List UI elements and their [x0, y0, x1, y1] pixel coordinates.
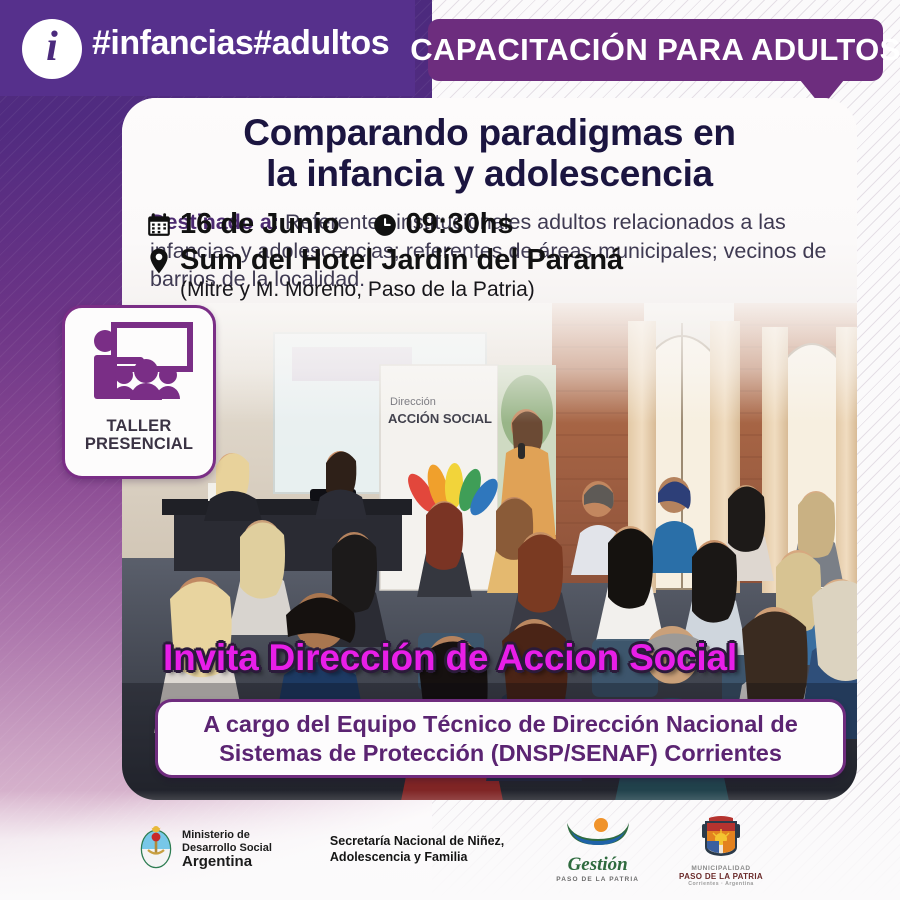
poster-root: i #infancias#adultos CAPACITACIÓN PARA A… [0, 0, 900, 900]
footer-logos: Ministerio de Desarrollo Social Argentin… [0, 812, 900, 888]
senaf-line2: Adolescencia y Familia [330, 850, 504, 866]
event-date-time-row: 16 de Junio 09:30hs [146, 208, 746, 241]
acargo-box: A cargo del Equipo Técnico de Dirección … [155, 699, 846, 778]
acargo-line2: Sistemas de Protección (DNSP/SENAF) Corr… [203, 739, 798, 768]
municipality-line3: Corrientes · Argentina [679, 881, 763, 887]
gestion-logo: Gestión PASO DE LA PATRIA [556, 817, 639, 883]
municipality-line2: PASO DE LA PATRIA [679, 872, 763, 881]
info-icon-glyph: i [46, 26, 58, 68]
ministry-line3: Argentina [182, 854, 272, 871]
photo-top-wash [122, 303, 857, 423]
invita-headline: Invita Dirección de Accion Social [0, 637, 900, 679]
location-pin-icon [146, 247, 172, 275]
page-title-line2: la infancia y adolescencia [122, 153, 857, 194]
senaf-logo-text: Secretaría Nacional de Niñez, Adolescenc… [330, 834, 504, 865]
senaf-line1: Secretaría Nacional de Niñez, [330, 834, 504, 850]
info-icon: i [22, 19, 82, 79]
acargo-line1: A cargo del Equipo Técnico de Dirección … [203, 710, 798, 739]
gestion-wordmark: Gestión [556, 855, 639, 874]
clock-icon [372, 212, 398, 238]
event-time: 09:30hs [406, 208, 514, 241]
main-card: Dirección ACCIÓN SOCIAL [122, 98, 857, 800]
event-date: 16 de Junio [180, 208, 340, 241]
workshop-badge: TALLER PRESENCIAL [62, 305, 216, 479]
event-address: (Mitre y M. Moreno, Paso de la Patria) [180, 278, 746, 302]
workshop-badge-line2: PRESENCIAL [85, 435, 193, 453]
ministry-logo: Ministerio de Desarrollo Social Argentin… [137, 826, 272, 875]
workshop-badge-line1: TALLER [85, 417, 193, 435]
capacitacion-bubble: CAPACITACIÓN PARA ADULTOS [428, 19, 883, 81]
gestion-sublabel: PASO DE LA PATRIA [556, 876, 639, 883]
event-venue: Sum del Hotel Jardín del Paraná [180, 243, 623, 278]
gestion-sun-wave-icon [563, 836, 633, 853]
workshop-presenter-icon [80, 319, 198, 412]
acargo-text: A cargo del Equipo Técnico de Dirección … [203, 710, 798, 767]
argentina-national-emblem-icon [137, 826, 175, 875]
page-title: Comparando paradigmas en la infancia y a… [122, 112, 857, 195]
page-title-line1: Comparando paradigmas en [122, 112, 857, 153]
municipality-line1: MUNICIPALIDAD [679, 865, 763, 872]
calendar-icon [146, 212, 172, 238]
workshop-badge-label: TALLER PRESENCIAL [85, 417, 193, 454]
municipality-logo: MUNICIPALIDAD PASO DE LA PATRIA Corrient… [679, 814, 763, 887]
capacitacion-bubble-label: CAPACITACIÓN PARA ADULTOS [410, 32, 900, 68]
ministry-logo-text: Ministerio de Desarrollo Social Argentin… [182, 829, 272, 870]
ministry-line1: Ministerio de [182, 829, 272, 841]
hashtag-label: #infancias#adultos [92, 24, 389, 63]
event-details: 16 de Junio 09:30hs Sum del Hotel Jardín… [146, 208, 746, 302]
event-venue-row: Sum del Hotel Jardín del Paraná [146, 243, 746, 278]
municipality-shield-icon [695, 845, 747, 862]
